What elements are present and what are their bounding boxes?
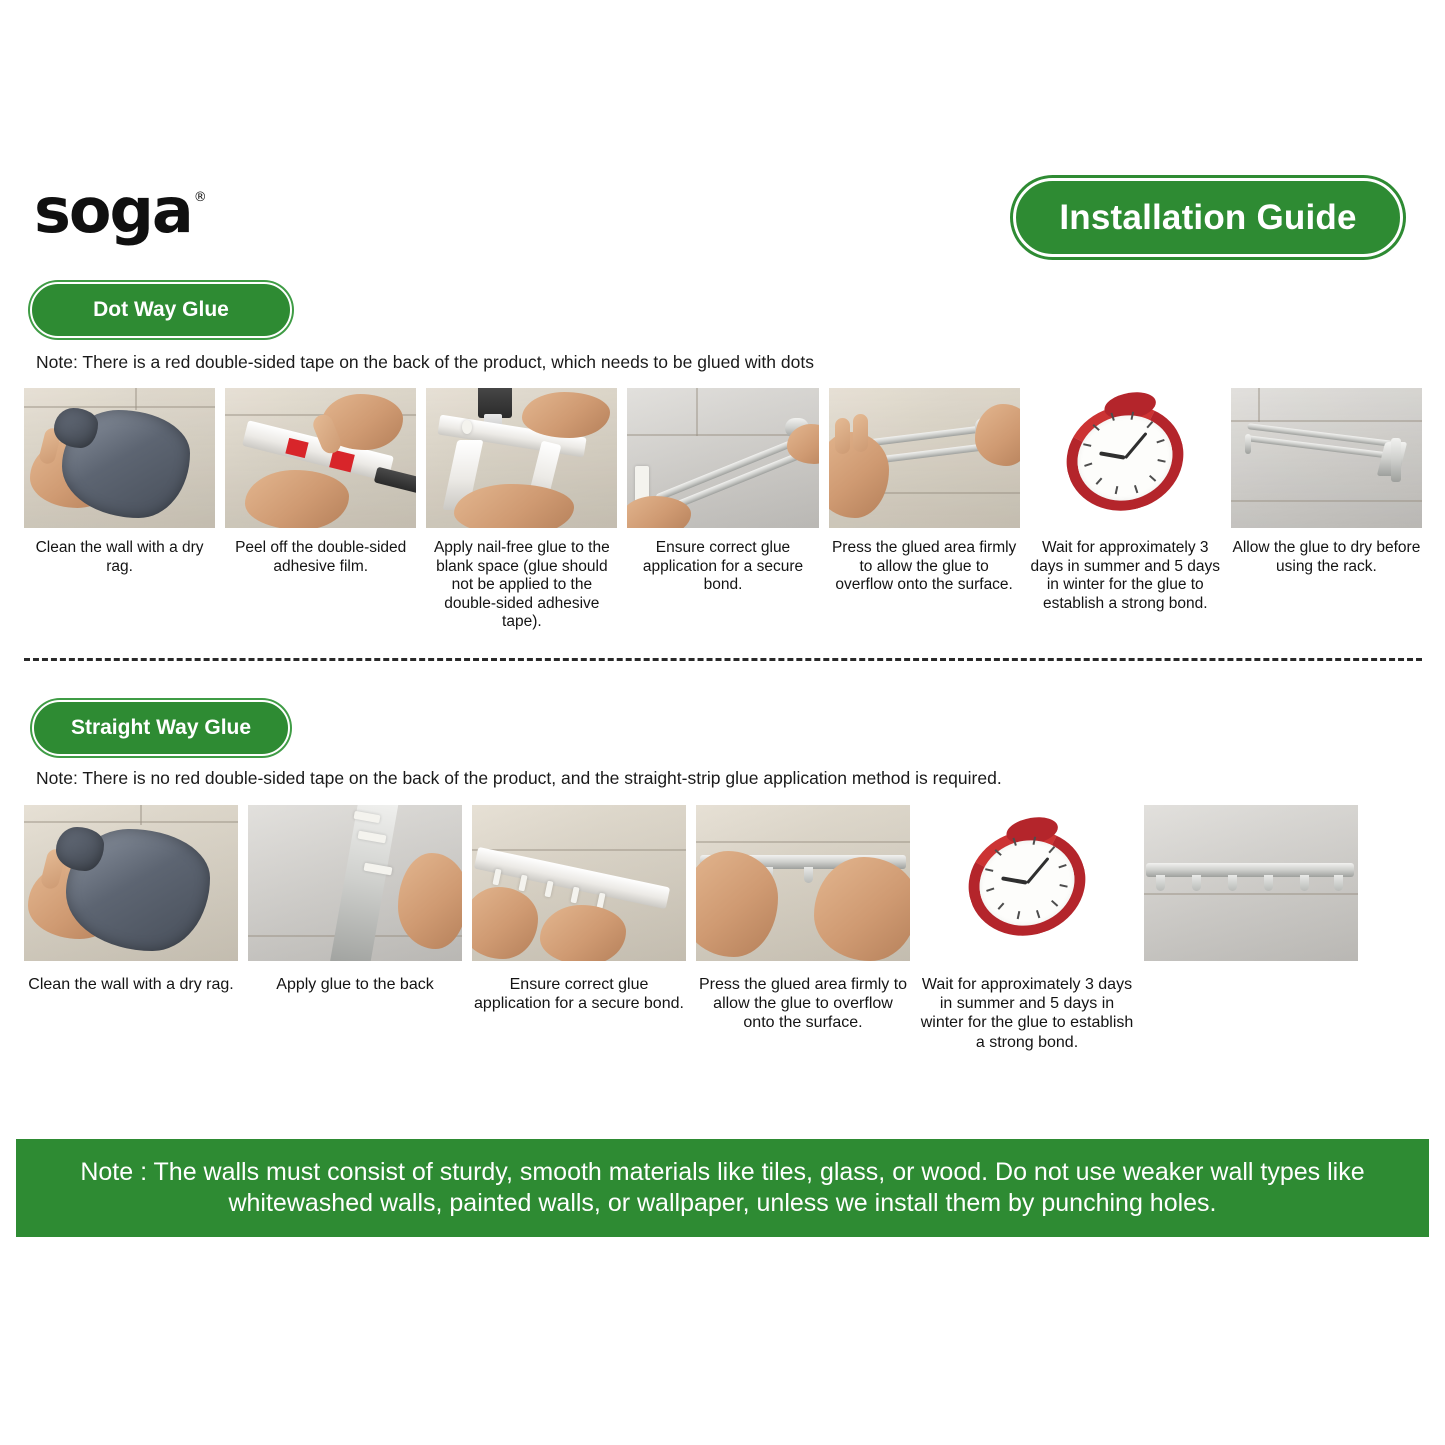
step-card: Clean the wall with a dry rag. xyxy=(24,805,238,1052)
finished-towel-rack-mounted-image xyxy=(1231,388,1422,528)
step-card xyxy=(1144,805,1358,1052)
step-caption: Press the glued area firmly to allow the… xyxy=(829,539,1020,595)
hands-holding-hook-rail-with-glue-image xyxy=(472,805,686,961)
dot-way-glue-steps: Clean the wall with a dry rag. Peel off … xyxy=(24,388,1422,632)
hands-pressing-hook-rail-on-wall-image xyxy=(696,805,910,961)
step-caption: Allow the glue to dry before using the r… xyxy=(1231,539,1422,576)
hand-wiping-tile-with-gray-cloth-image xyxy=(24,805,238,961)
step-card: Clean the wall with a dry rag. xyxy=(24,388,215,632)
hand-wiping-tile-with-gray-cloth-image xyxy=(24,388,215,528)
step-caption: Apply glue to the back xyxy=(248,975,462,994)
step-caption: Peel off the double-sided adhesive film. xyxy=(225,539,416,576)
step-card: Ensure correct glue application for a se… xyxy=(472,805,686,1052)
step-card: Wait for approximately 3 days in summer … xyxy=(920,805,1134,1052)
step-card: Apply nail-free glue to the blank space … xyxy=(426,388,617,632)
step-caption: Clean the wall with a dry rag. xyxy=(24,539,215,576)
step-card: Ensure correct glue application for a se… xyxy=(627,388,818,632)
glue-stripes-applied-to-rail-back-image xyxy=(248,805,462,961)
step-card: Press the glued area firmly to allow the… xyxy=(696,805,910,1052)
installation-guide-badge: Installation Guide xyxy=(1013,178,1403,257)
dot-way-glue-note: Note: There is a red double-sided tape o… xyxy=(36,352,814,373)
section-divider xyxy=(24,658,1422,661)
finished-hook-rail-mounted-image xyxy=(1144,805,1358,961)
step-caption: Apply nail-free glue to the blank space … xyxy=(426,539,617,632)
step-caption: Wait for approximately 3 days in summer … xyxy=(1030,539,1221,613)
clock-icon xyxy=(955,815,1099,950)
registered-trademark-icon: ® xyxy=(194,190,207,205)
straight-way-glue-steps: Clean the wall with a dry rag. Apply glu… xyxy=(24,805,1422,1052)
logo-wordmark: soga xyxy=(34,182,192,239)
towel-rack-positioned-on-tile-wall-image xyxy=(627,388,818,528)
step-caption: Press the glued area firmly to allow the… xyxy=(696,975,910,1033)
step-card: Allow the glue to dry before using the r… xyxy=(1231,388,1422,632)
installation-guide-page: soga ® Installation Guide Dot Way Glue N… xyxy=(0,0,1445,1445)
footer-warning-text: Note : The walls must consist of sturdy,… xyxy=(34,1157,1411,1220)
step-caption: Ensure correct glue application for a se… xyxy=(472,975,686,1013)
hands-peeling-film-from-bracket-image xyxy=(225,388,416,528)
step-card: Peel off the double-sided adhesive film. xyxy=(225,388,416,632)
red-clock-wait-icon-image xyxy=(1030,388,1221,528)
glue-gun-applying-glue-to-bracket-image xyxy=(426,388,617,528)
step-caption: Wait for approximately 3 days in summer … xyxy=(920,975,1134,1052)
step-card: Wait for approximately 3 days in summer … xyxy=(1030,388,1221,632)
clock-icon xyxy=(1053,390,1197,525)
step-caption: Clean the wall with a dry rag. xyxy=(24,975,238,994)
step-card: Press the glued area firmly to allow the… xyxy=(829,388,1020,632)
footer-warning-banner: Note : The walls must consist of sturdy,… xyxy=(16,1139,1429,1237)
soga-logo: soga ® xyxy=(34,182,207,239)
straight-way-glue-label: Straight Way Glue xyxy=(71,716,251,740)
dot-way-glue-label: Dot Way Glue xyxy=(93,298,229,322)
page-header: soga ® Installation Guide xyxy=(34,178,1403,264)
hands-pressing-rack-against-wall-image xyxy=(829,388,1020,528)
step-caption: Ensure correct glue application for a se… xyxy=(627,539,818,595)
section-pill-dot-way-glue: Dot Way Glue xyxy=(30,282,292,338)
step-card: Apply glue to the back xyxy=(248,805,462,1052)
section-pill-straight-way-glue: Straight Way Glue xyxy=(32,700,290,756)
installation-guide-label: Installation Guide xyxy=(1059,198,1356,238)
straight-way-glue-note: Note: There is no red double-sided tape … xyxy=(36,768,1002,789)
red-clock-wait-icon-image xyxy=(920,805,1134,961)
